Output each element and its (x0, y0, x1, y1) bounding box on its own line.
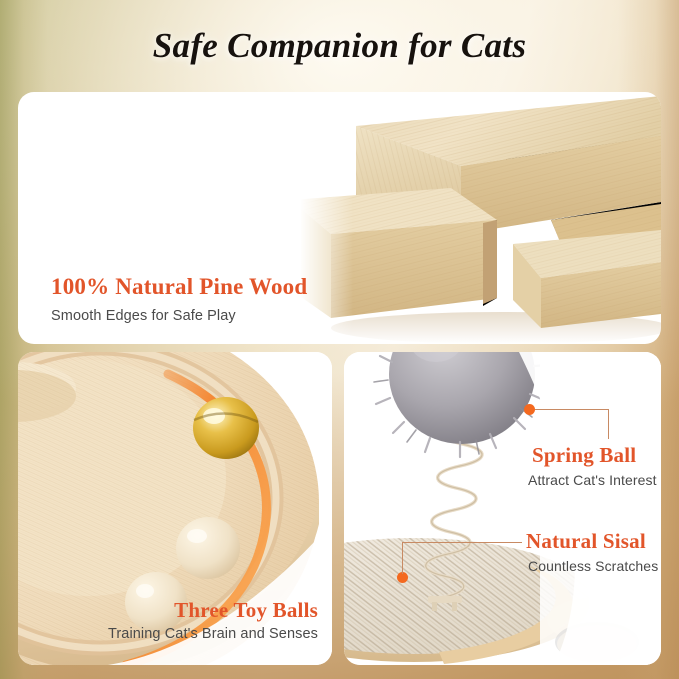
natural-sisal-callout-line-v (402, 542, 403, 574)
photo-left-fade (263, 92, 353, 344)
natural-sisal-callout-line-h (402, 542, 522, 543)
toy-balls-subheading: Training Cat's Brain and Senses (108, 626, 318, 643)
spring-ball-subheading: Attract Cat's Interest (528, 472, 657, 489)
page-title: Safe Companion for Cats (0, 26, 679, 66)
sisal-svg (344, 352, 661, 665)
toy-balls-caption: Three Toy Balls Training Cat's Brain and… (108, 599, 318, 643)
panel-pine-wood: 100% Natural Pine Wood Smooth Edges for … (18, 92, 661, 344)
pine-heading: 100% Natural Pine Wood (51, 275, 307, 299)
toy-balls-heading: Three Toy Balls (108, 599, 318, 621)
wood-beams-svg (301, 92, 661, 344)
spring-ball-marker-dot[interactable] (524, 404, 535, 415)
panel-sisal-spring: Spring Ball Attract Cat's Interest Natur… (344, 352, 661, 665)
infographic-stage: Safe Companion for Cats (0, 0, 679, 679)
natural-sisal-heading: Natural Sisal (526, 530, 646, 552)
panel-toy-balls: Three Toy Balls Training Cat's Brain and… (18, 352, 332, 665)
pine-subheading: Smooth Edges for Safe Play (51, 308, 236, 325)
spring-ball-callout-line-v (608, 409, 609, 439)
pine-wood-beams-image (301, 92, 661, 344)
sisal-spring-toy-image (344, 352, 661, 665)
spring-ball-heading: Spring Ball (532, 444, 636, 466)
wood-beam-bottom-right (513, 230, 661, 328)
spring-ball-callout-line-h (535, 409, 609, 410)
gold-ball (193, 397, 259, 459)
natural-sisal-subheading: Countless Scratches (528, 558, 658, 575)
